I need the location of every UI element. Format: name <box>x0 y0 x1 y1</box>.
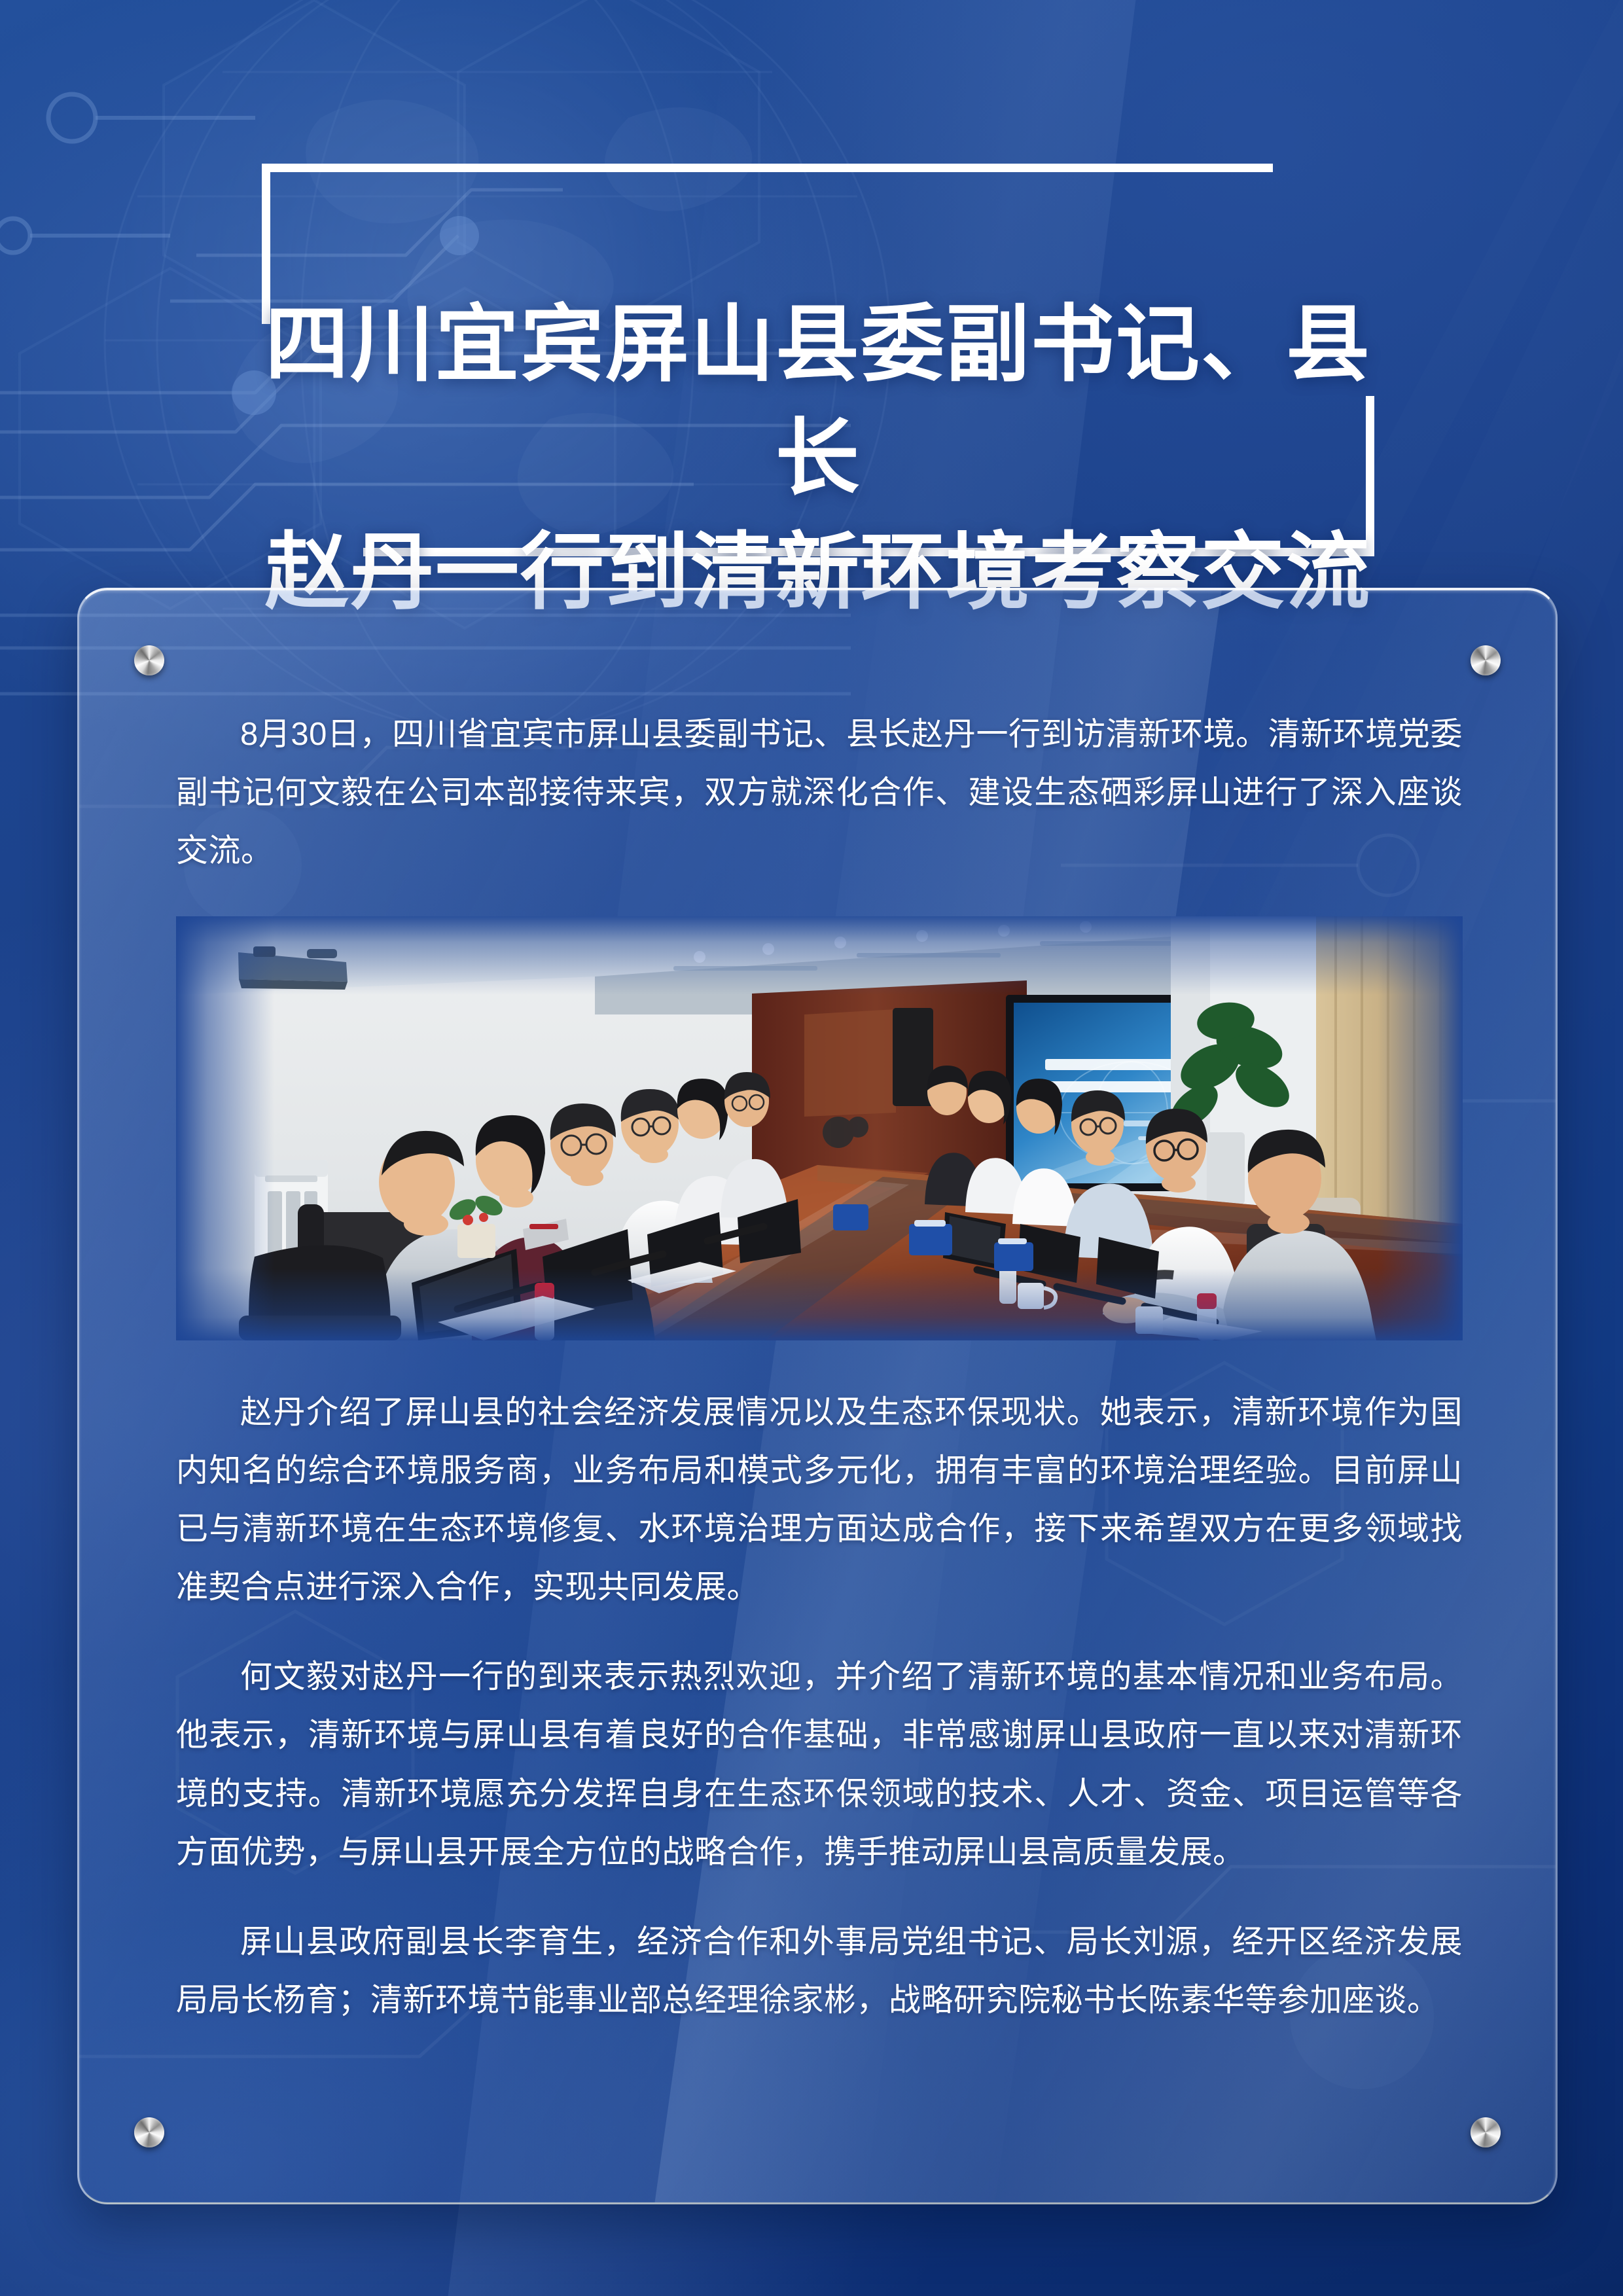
poster-page: 四川宜宾屏山县委副书记、县长 赵丹一行到清新环境考察交流 <box>0 0 1623 2296</box>
article-paragraph-4: 屏山县政府副县长李育生，经济合作和外事局党组书记、局长刘源，经开区经济发展局局长… <box>176 1913 1463 2030</box>
meeting-photo-image <box>176 916 1463 1340</box>
screw-icon <box>134 2117 164 2147</box>
article-body: 8月30日，四川省宜宾市屏山县委副书记、县长赵丹一行到访清新环境。清新环境党委副… <box>176 706 1463 2030</box>
screw-icon <box>1471 645 1501 675</box>
article-paragraph-1: 8月30日，四川省宜宾市屏山县委副书记、县长赵丹一行到访清新环境。清新环境党委副… <box>176 706 1463 881</box>
page-title: 四川宜宾屏山县委副书记、县长 赵丹一行到清新环境考察交流 <box>262 288 1374 630</box>
article-card: 8月30日，四川省宜宾市屏山县委副书记、县长赵丹一行到访清新环境。清新环境党委副… <box>77 588 1558 2204</box>
screw-icon <box>1471 2117 1501 2147</box>
title-block: 四川宜宾屏山县委副书记、县长 赵丹一行到清新环境考察交流 <box>262 164 1374 556</box>
conference-room-illustration <box>176 916 1463 1340</box>
bracket-top-bar <box>262 164 1273 172</box>
article-paragraph-2: 赵丹介绍了屏山县的社会经济发展情况以及生态环保现状。她表示，清新环境作为国内知名… <box>176 1384 1463 1617</box>
meeting-photo <box>176 916 1463 1340</box>
screw-icon <box>134 645 164 675</box>
article-paragraph-3: 何文毅对赵丹一行的到来表示热烈欢迎，并介绍了清新环境的基本情况和业务布局。他表示… <box>176 1648 1463 1882</box>
